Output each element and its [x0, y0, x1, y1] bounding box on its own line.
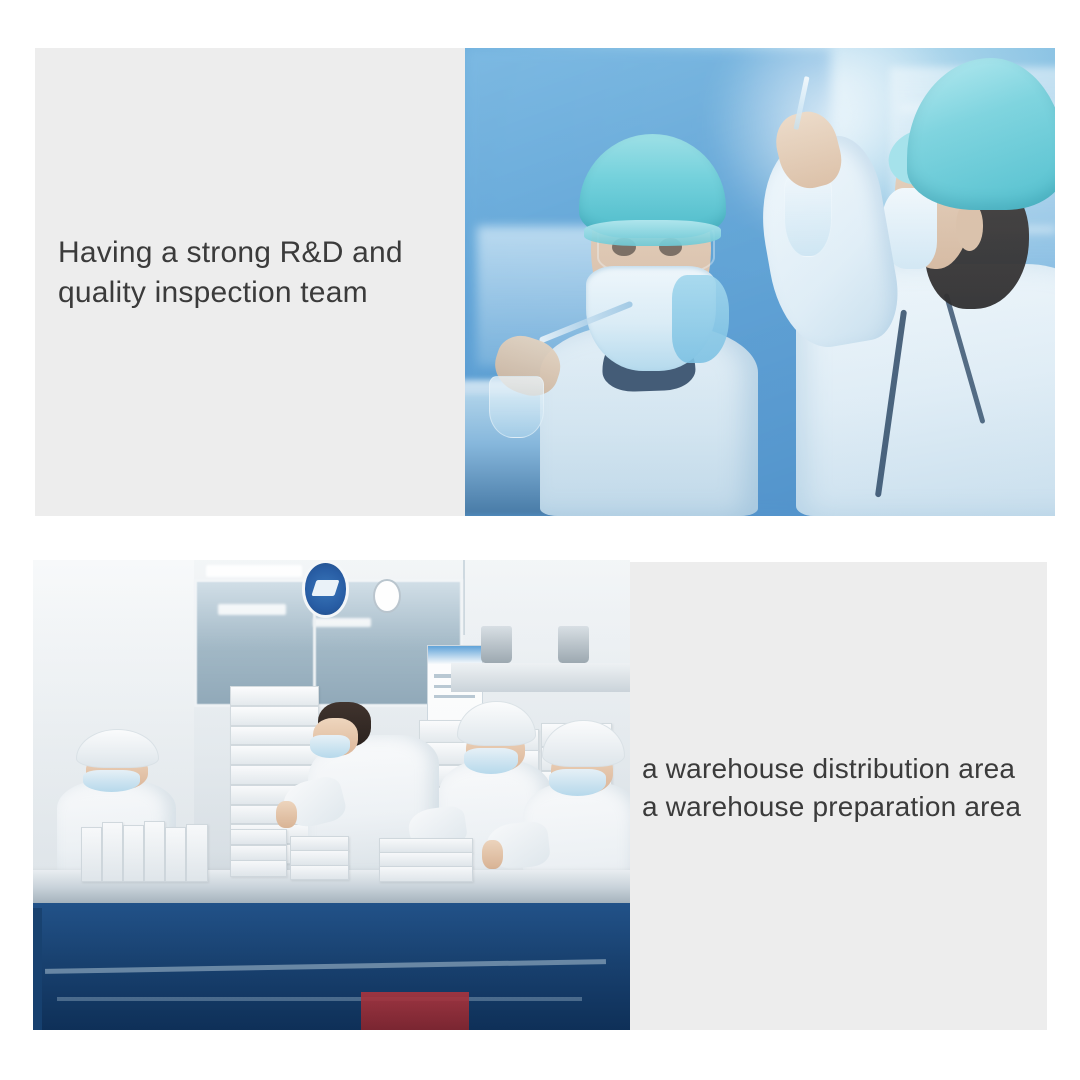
table-cross-bar-lower	[57, 997, 582, 1001]
warehouse-worker-left-mask	[83, 770, 140, 792]
carton-stack-front-centre	[230, 823, 349, 879]
lab-worker-front-mask-fold	[672, 275, 729, 364]
warehouse-worker-middle-mask	[464, 748, 518, 774]
carton-stack-front-right	[379, 833, 475, 880]
carton-stack-front-left	[81, 804, 212, 879]
warehouse-worker-right-hand	[482, 840, 503, 869]
lab-scene-illustration	[465, 48, 1055, 516]
hanging-cord	[463, 560, 465, 635]
blue-round-wall-sign	[302, 560, 350, 618]
page-root: Having a strong R&D and quality inspecti…	[0, 0, 1080, 1080]
row-2-caption: a warehouse distribution area a warehous…	[642, 750, 1062, 826]
ceiling-light-1	[206, 565, 302, 577]
lab-worker-front-hairnet	[579, 134, 727, 239]
lab-worker-side	[772, 67, 1055, 516]
stainless-container-1	[481, 626, 512, 664]
warehouse-worker-right-hairnet	[542, 720, 625, 767]
warehouse-worker-left-hairnet	[76, 729, 159, 768]
lab-beaker	[489, 376, 544, 439]
lab-worker-front	[524, 114, 784, 516]
warehouse-scene-illustration	[33, 560, 630, 1030]
row-2-photo-warehouse-packing	[33, 560, 630, 1030]
row-1-photo-lab-inspection	[465, 48, 1055, 516]
row-2-warehouse: a warehouse distribution area a warehous…	[33, 560, 1047, 1030]
lab-worker-side-hairnet	[907, 58, 1055, 211]
stainless-container-2	[558, 626, 589, 664]
back-counter	[451, 663, 630, 691]
row-1-caption: Having a strong R&D and quality inspecti…	[58, 233, 458, 313]
table-leg-3	[33, 908, 42, 1030]
red-floor-mat	[361, 992, 468, 1030]
warehouse-worker-bending-mask	[310, 735, 349, 758]
row-1-rd-quality: Having a strong R&D and quality inspecti…	[35, 48, 1055, 516]
